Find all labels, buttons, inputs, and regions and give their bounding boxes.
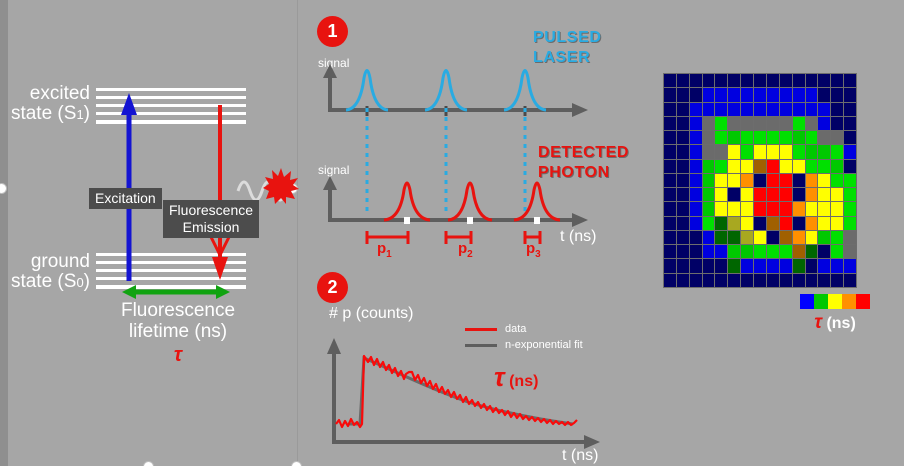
heatmap-cell xyxy=(715,274,727,287)
heatmap-cell xyxy=(780,117,792,130)
heatmap-cell xyxy=(793,259,805,272)
heatmap-cell xyxy=(806,231,818,244)
heatmap-cell xyxy=(664,174,676,187)
heatmap-cell xyxy=(780,145,792,158)
heatmap-cell xyxy=(664,274,676,287)
selection-handle-bottom-1[interactable] xyxy=(143,461,154,466)
flim-heatmap-image[interactable] xyxy=(663,73,857,288)
interval-label-p1: p1 xyxy=(377,240,392,260)
heatmap-cell xyxy=(806,202,818,215)
heatmap-cell xyxy=(677,74,689,87)
ground-state-label-line1: ground xyxy=(0,252,90,272)
heatmap-cell xyxy=(806,274,818,287)
heatmap-cell xyxy=(703,103,715,116)
heatmap-cell xyxy=(754,131,766,144)
heatmap-cell xyxy=(780,245,792,258)
heatmap-cell xyxy=(703,245,715,258)
heatmap-cell xyxy=(831,245,843,258)
heatmap-cell xyxy=(690,117,702,130)
heatmap-cell xyxy=(741,188,753,201)
heatmap-cell xyxy=(703,145,715,158)
heatmap-cell xyxy=(741,174,753,187)
heatmap-cell xyxy=(690,245,702,258)
detected-photon-trace xyxy=(312,170,598,230)
ground-state-label: ground state (S0) xyxy=(0,252,90,293)
heatmap-cell xyxy=(780,259,792,272)
heatmap-cell xyxy=(844,217,856,230)
heatmap-cell xyxy=(818,245,830,258)
heatmap-cell xyxy=(780,160,792,173)
heatmap-cell xyxy=(754,160,766,173)
photon-burst-icon xyxy=(263,168,299,204)
heatmap-cell xyxy=(754,231,766,244)
heatmap-cell xyxy=(818,117,830,130)
lifetime-caption-line1: Fluorescence xyxy=(88,300,268,321)
heatmap-cell xyxy=(806,245,818,258)
heatmap-cell xyxy=(767,88,779,101)
heatmap-cell xyxy=(715,188,727,201)
heatmap-cell xyxy=(767,259,779,272)
heatmap-cell xyxy=(754,103,766,116)
heatmap-cell xyxy=(677,245,689,258)
heatmap-cell xyxy=(793,131,805,144)
heatmap-cell xyxy=(741,117,753,130)
heatmap-cell xyxy=(844,231,856,244)
heatmap-cell xyxy=(793,74,805,87)
heatmap-cell xyxy=(741,274,753,287)
heatmap-cell xyxy=(690,88,702,101)
colorbar-swatch-1 xyxy=(814,294,828,309)
heatmap-cell xyxy=(715,217,727,230)
heatmap-cell xyxy=(741,259,753,272)
decay-curve-plot xyxy=(318,332,608,452)
heatmap-cell xyxy=(818,74,830,87)
heatmap-cell xyxy=(715,231,727,244)
interval-label-p3: p3 xyxy=(526,240,541,260)
heatmap-cell xyxy=(780,217,792,230)
heatmap-cell xyxy=(767,74,779,87)
heatmap-cell xyxy=(818,88,830,101)
heatmap-cell xyxy=(793,245,805,258)
heatmap-cell xyxy=(831,145,843,158)
heatmap-cell xyxy=(754,74,766,87)
heatmap-cell xyxy=(728,274,740,287)
heatmap-cell xyxy=(780,231,792,244)
lifetime-double-arrow-icon xyxy=(122,283,230,301)
heatmap-cell xyxy=(754,88,766,101)
emission-tag: Fluorescence Emission xyxy=(163,200,259,238)
heatmap-cell xyxy=(844,245,856,258)
heatmap-cell xyxy=(780,88,792,101)
heatmap-cell xyxy=(754,145,766,158)
heatmap-cell xyxy=(664,231,676,244)
heatmap-cell xyxy=(767,117,779,130)
heatmap-cell xyxy=(690,231,702,244)
heatmap-cell xyxy=(664,74,676,87)
panel-divider xyxy=(297,0,298,466)
heatmap-cell xyxy=(741,231,753,244)
heatmap-cell xyxy=(690,160,702,173)
heatmap-cell xyxy=(703,231,715,244)
heatmap-cell xyxy=(818,259,830,272)
heatmap-cell xyxy=(690,145,702,158)
legend-swatch-data xyxy=(465,328,497,331)
heatmap-cell xyxy=(677,217,689,230)
heatmap-cell xyxy=(728,117,740,130)
heatmap-cell xyxy=(741,145,753,158)
heatmap-cell xyxy=(677,103,689,116)
heatmap-cell xyxy=(715,202,727,215)
emission-tag-line1: Fluorescence xyxy=(169,202,253,219)
heatmap-cell xyxy=(831,217,843,230)
heatmap-cell xyxy=(728,188,740,201)
heatmap-cell xyxy=(831,88,843,101)
lifetime-caption: Fluorescence lifetime (ns) xyxy=(88,300,268,342)
heatmap-cell xyxy=(677,188,689,201)
heatmap-cell xyxy=(767,245,779,258)
panel2-y-axis-label: # p (counts) xyxy=(329,305,413,323)
heatmap-cell xyxy=(767,103,779,116)
heatmap-cell xyxy=(715,174,727,187)
heatmap-cell xyxy=(818,145,830,158)
pulsed-laser-title-line1: PULSED xyxy=(533,28,602,48)
heatmap-cell xyxy=(715,145,727,158)
heatmap-cell xyxy=(664,259,676,272)
heatmap-cell xyxy=(703,131,715,144)
heatmap-cell xyxy=(793,117,805,130)
heatmap-cell xyxy=(690,259,702,272)
heatmap-cell xyxy=(690,274,702,287)
lifetime-tau-symbol: τ xyxy=(88,344,268,367)
heatmap-cell xyxy=(806,117,818,130)
heatmap-cell xyxy=(806,88,818,101)
heatmap-cell xyxy=(754,174,766,187)
heatmap-cell xyxy=(831,117,843,130)
heatmap-cell xyxy=(806,174,818,187)
heatmap-cell xyxy=(703,202,715,215)
heatmap-cell xyxy=(793,174,805,187)
emission-tag-line2: Emission xyxy=(169,219,253,236)
heatmap-cell xyxy=(741,88,753,101)
heatmap-cell xyxy=(677,202,689,215)
heatmap-cell xyxy=(754,117,766,130)
heatmap-cell xyxy=(818,174,830,187)
heatmap-cell xyxy=(806,217,818,230)
heatmap-cell xyxy=(818,217,830,230)
heatmap-cell xyxy=(728,217,740,230)
heatmap-cell xyxy=(715,245,727,258)
heatmap-cell xyxy=(728,145,740,158)
heatmap-cell xyxy=(780,131,792,144)
heatmap-cell xyxy=(690,217,702,230)
heatmap-cell xyxy=(844,160,856,173)
heatmap-cell xyxy=(728,202,740,215)
heatmap-cell xyxy=(728,88,740,101)
heatmap-cell xyxy=(806,74,818,87)
heatmap-cell xyxy=(831,188,843,201)
heatmap-cell xyxy=(754,274,766,287)
heatmap-cell xyxy=(741,131,753,144)
heatmap-cell xyxy=(818,231,830,244)
colorbar-swatch-3 xyxy=(842,294,856,309)
heatmap-cell xyxy=(690,131,702,144)
interval-label-p2: p2 xyxy=(458,240,473,260)
heatmap-cell xyxy=(780,202,792,215)
excited-state-label-line1: excited xyxy=(0,84,90,104)
heatmap-cell xyxy=(677,259,689,272)
heatmap-cell xyxy=(664,103,676,116)
heatmap-cell xyxy=(703,217,715,230)
heatmap-cell xyxy=(767,174,779,187)
heatmap-cell xyxy=(690,202,702,215)
heatmap-cell xyxy=(767,231,779,244)
heatmap-cell xyxy=(844,88,856,101)
heatmap-cell xyxy=(728,231,740,244)
heatmap-cell xyxy=(844,202,856,215)
heatmap-cell xyxy=(715,131,727,144)
panel-1-badge: 1 xyxy=(317,16,348,47)
heatmap-cell xyxy=(793,231,805,244)
heatmap-cell xyxy=(806,131,818,144)
heatmap-cell xyxy=(677,231,689,244)
heatmap-cell xyxy=(677,88,689,101)
heatmap-cell xyxy=(703,174,715,187)
heatmap-cell xyxy=(677,131,689,144)
heatmap-cell xyxy=(728,160,740,173)
heatmap-cell xyxy=(690,174,702,187)
heatmap-cell xyxy=(664,88,676,101)
heatmap-cell xyxy=(831,174,843,187)
heatmap-cell xyxy=(728,74,740,87)
heatmap-cell xyxy=(677,274,689,287)
selection-handle-bottom-2[interactable] xyxy=(291,461,302,466)
heatmap-cell xyxy=(780,74,792,87)
heatmap-cell xyxy=(844,103,856,116)
heatmap-cell xyxy=(780,174,792,187)
heatmap-cell xyxy=(690,74,702,87)
lifetime-caption-line2: lifetime (ns) xyxy=(88,321,268,342)
heatmap-cell xyxy=(844,259,856,272)
heatmap-cell xyxy=(780,274,792,287)
panel-2-badge: 2 xyxy=(317,272,348,303)
heatmap-cell xyxy=(741,103,753,116)
heatmap-cell xyxy=(767,145,779,158)
excitation-tag: Excitation xyxy=(89,188,162,209)
heatmap-cell xyxy=(754,188,766,201)
heatmap-cell xyxy=(767,188,779,201)
heatmap-cell xyxy=(806,188,818,201)
heatmap-cell xyxy=(715,88,727,101)
heatmap-cell xyxy=(806,103,818,116)
heatmap-cell xyxy=(793,188,805,201)
heatmap-cell xyxy=(806,259,818,272)
heatmap-cell xyxy=(664,217,676,230)
heatmap-cell xyxy=(806,145,818,158)
heatmap-cell xyxy=(793,274,805,287)
colorbar-swatch-2 xyxy=(828,294,842,309)
heatmap-cell xyxy=(793,145,805,158)
heatmap-cell xyxy=(831,74,843,87)
heatmap-cell xyxy=(677,160,689,173)
colorbar-swatch-0 xyxy=(800,294,814,309)
excited-state-label-line2: state (S1) xyxy=(0,104,90,125)
heatmap-cell xyxy=(844,274,856,287)
heatmap-cell xyxy=(690,103,702,116)
heatmap-cell xyxy=(831,131,843,144)
heatmap-cell xyxy=(664,245,676,258)
slide-canvas: excited state (S1) ground state (S0) xyxy=(0,0,904,466)
heatmap-cell xyxy=(703,274,715,287)
heatmap-cell xyxy=(741,202,753,215)
heatmap-cell xyxy=(703,188,715,201)
heatmap-cell xyxy=(793,202,805,215)
heatmap-cell xyxy=(831,103,843,116)
heatmap-cell xyxy=(793,103,805,116)
heatmap-cell xyxy=(754,245,766,258)
heatmap-cell xyxy=(741,74,753,87)
heatmap-cell xyxy=(664,117,676,130)
heatmap-cell xyxy=(844,145,856,158)
heatmap-cell xyxy=(664,145,676,158)
heatmap-cell xyxy=(831,231,843,244)
heatmap-cell xyxy=(715,160,727,173)
heatmap-cell xyxy=(703,259,715,272)
heatmap-cell xyxy=(741,160,753,173)
heatmap-cell xyxy=(831,202,843,215)
heatmap-cell xyxy=(831,274,843,287)
heatmap-cell xyxy=(664,131,676,144)
heatmap-cell xyxy=(728,174,740,187)
heatmap-cell xyxy=(741,245,753,258)
flim-colorbar xyxy=(800,294,870,309)
heatmap-cell xyxy=(715,259,727,272)
heatmap-cell xyxy=(780,103,792,116)
heatmap-cell xyxy=(754,259,766,272)
heatmap-cell xyxy=(677,145,689,158)
heatmap-cell xyxy=(780,188,792,201)
energy-level xyxy=(96,88,246,91)
heatmap-cell xyxy=(793,88,805,101)
heatmap-cell xyxy=(703,160,715,173)
heatmap-cell xyxy=(844,131,856,144)
heatmap-cell xyxy=(793,217,805,230)
heatmap-cell xyxy=(844,188,856,201)
heatmap-cell xyxy=(818,202,830,215)
photon-interval-bars xyxy=(312,230,598,248)
excited-state-label: excited state (S1) xyxy=(0,84,90,125)
heatmap-cell xyxy=(818,103,830,116)
heatmap-cell xyxy=(844,74,856,87)
heatmap-cell xyxy=(767,160,779,173)
colorbar-swatch-4 xyxy=(856,294,870,309)
heatmap-cell xyxy=(677,174,689,187)
heatmap-cell xyxy=(844,174,856,187)
heatmap-cell xyxy=(703,88,715,101)
left-edge-strip xyxy=(0,0,8,466)
heatmap-cell xyxy=(754,202,766,215)
heatmap-cell xyxy=(767,217,779,230)
heatmap-cell xyxy=(754,217,766,230)
heatmap-cell xyxy=(728,245,740,258)
heatmap-cell xyxy=(664,160,676,173)
heatmap-cell xyxy=(741,217,753,230)
heatmap-cell xyxy=(767,202,779,215)
flim-colorbar-caption: τ (ns) xyxy=(800,312,870,334)
heatmap-cell xyxy=(715,103,727,116)
heatmap-cell xyxy=(703,117,715,130)
heatmap-cell xyxy=(715,74,727,87)
heatmap-cell xyxy=(793,160,805,173)
heatmap-cell xyxy=(806,160,818,173)
heatmap-cell xyxy=(664,202,676,215)
ground-state-label-line2: state (S0) xyxy=(0,272,90,293)
heatmap-cell xyxy=(728,103,740,116)
heatmap-cell xyxy=(677,117,689,130)
heatmap-cell xyxy=(818,274,830,287)
heatmap-cell xyxy=(844,117,856,130)
heatmap-cell xyxy=(831,160,843,173)
heatmap-cell xyxy=(715,117,727,130)
heatmap-cell xyxy=(818,131,830,144)
heatmap-cell xyxy=(690,188,702,201)
heatmap-cell xyxy=(728,259,740,272)
emission-arrow-icon xyxy=(207,105,233,280)
heatmap-cell xyxy=(818,160,830,173)
heatmap-cell xyxy=(818,188,830,201)
heatmap-cell xyxy=(767,274,779,287)
heatmap-cell xyxy=(767,131,779,144)
heatmap-cell xyxy=(664,188,676,201)
heatmap-cell xyxy=(831,259,843,272)
heatmap-cell xyxy=(703,74,715,87)
heatmap-cell xyxy=(728,131,740,144)
